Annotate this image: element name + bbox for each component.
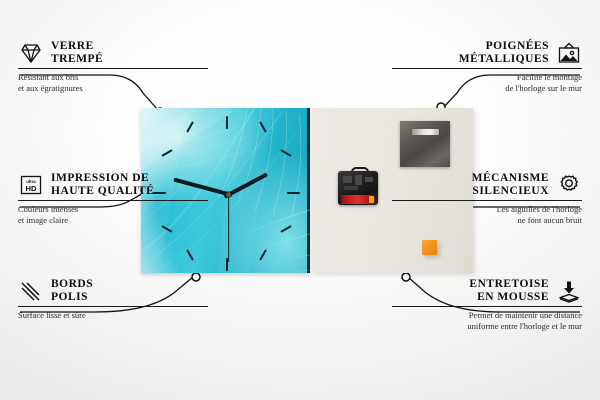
hanger-slot [412, 129, 439, 135]
wall-hanger-icon [556, 40, 582, 66]
feature-description: Permet de maintenir une distance uniform… [392, 310, 582, 331]
feature-entretoise-mousse: ENTRETOISE EN MOUSSE Permet de maintenir… [392, 278, 582, 331]
second-hand [227, 192, 228, 262]
feature-header: MÉCANISME SILENCIEUX [392, 172, 582, 198]
feature-title: IMPRESSION DE HAUTE QUALITÉ [51, 172, 154, 198]
feature-description: Résistant aux bris et aux égratignures [18, 72, 208, 93]
feature-title: POIGNÉES MÉTALLIQUES [459, 40, 549, 66]
mechanism-detail [355, 175, 362, 185]
foam-spacer-icon [556, 278, 582, 304]
hour-marker [226, 116, 228, 129]
feature-mecanisme-silencieux: MÉCANISME SILENCIEUX Les aiguilles de l'… [392, 172, 582, 225]
feature-title: ENTRETOISE EN MOUSSE [469, 278, 549, 304]
feature-header: BORDS POLIS [18, 278, 208, 304]
feature-divider [392, 200, 582, 201]
feature-title: BORDS POLIS [51, 278, 93, 304]
feature-divider [18, 68, 208, 69]
feature-poignees-metalliques: POIGNÉES MÉTALLIQUES Facilite le montage… [392, 40, 582, 93]
mechanism-body [338, 171, 378, 205]
quartz-mechanism [338, 167, 378, 205]
mechanism-detail [343, 176, 352, 183]
infographic-stage: VERRE TREMPÉ Résistant aux bris et aux é… [0, 0, 600, 400]
feature-impression-haute-qualite: ultra HD IMPRESSION DE HAUTE QUALITÉ Cou… [18, 172, 208, 225]
mechanism-detail [365, 177, 373, 182]
metal-hanger-plate [400, 121, 450, 167]
feature-header: ultra HD IMPRESSION DE HAUTE QUALITÉ [18, 172, 208, 198]
polished-edges-icon [18, 278, 44, 304]
hour-marker [287, 192, 300, 194]
feature-title: VERRE TREMPÉ [51, 40, 103, 66]
feature-header: VERRE TREMPÉ [18, 40, 208, 66]
ultra-hd-icon: ultra HD [18, 172, 44, 198]
gear-icon [556, 172, 582, 198]
feature-bords-polis: BORDS POLIS Surface lisse et sûre [18, 278, 208, 321]
battery-terminal [369, 196, 374, 203]
feature-divider [392, 306, 582, 307]
svg-text:HD: HD [26, 184, 37, 193]
feature-description: Couleurs intenses et image claire [18, 204, 208, 225]
feature-title: MÉCANISME SILENCIEUX [472, 172, 549, 198]
feature-divider [392, 68, 582, 69]
mechanism-detail [344, 186, 358, 190]
feature-verre-trempe: VERRE TREMPÉ Résistant aux bris et aux é… [18, 40, 208, 93]
feature-divider [18, 306, 208, 307]
battery [341, 195, 375, 204]
feature-description: Les aiguilles de l'horloge ne font aucun… [392, 204, 582, 225]
feature-divider [18, 200, 208, 201]
feature-header: ENTRETOISE EN MOUSSE [392, 278, 582, 304]
feature-header: POIGNÉES MÉTALLIQUES [392, 40, 582, 66]
feature-description: Facilite le montage de l'horloge sur le … [392, 72, 582, 93]
foam-spacer [422, 240, 437, 255]
hand-center-cap [226, 192, 231, 197]
diamond-icon [18, 40, 44, 66]
feature-description: Surface lisse et sûre [18, 310, 208, 321]
